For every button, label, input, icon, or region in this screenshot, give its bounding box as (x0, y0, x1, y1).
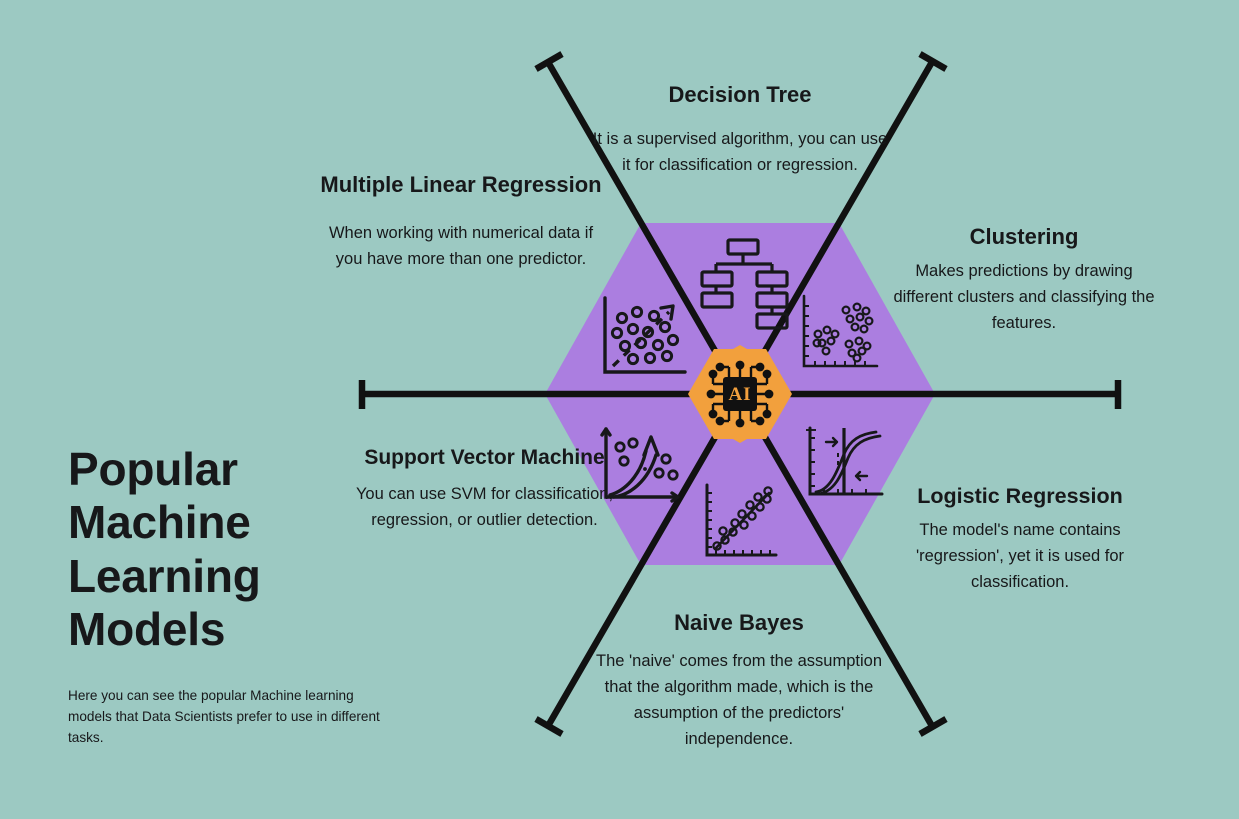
section-title: Clustering (888, 224, 1160, 250)
section-title: Multiple Linear Regression (320, 172, 602, 198)
infographic-canvas: AI Popular Machine Learning Models Here … (0, 0, 1239, 819)
section-title: Decision Tree (592, 82, 888, 108)
section-body: You can use SVM for classification, regr… (347, 481, 622, 533)
section-body: It is a supervised algorithm, you can us… (592, 126, 888, 178)
section-naive-bayes[interactable]: Naive Bayes The 'naive' comes from the a… (584, 610, 894, 752)
section-body: The model's name contains 'regression', … (884, 517, 1156, 595)
center-ai-label: AI (728, 384, 751, 405)
page-description: Here you can see the popular Machine lea… (68, 686, 384, 748)
section-body: Makes predictions by drawing different c… (888, 258, 1160, 336)
section-multiple-linear-regression[interactable]: Multiple Linear Regression When working … (320, 172, 602, 272)
section-title: Logistic Regression (884, 484, 1156, 509)
section-clustering[interactable]: Clustering Makes predictions by drawing … (888, 224, 1160, 336)
section-support-vector-machine[interactable]: Support Vector Machine You can use SVM f… (347, 446, 622, 533)
section-body: When working with numerical data if you … (320, 220, 602, 272)
section-title: Support Vector Machine (347, 446, 622, 471)
section-body: The 'naive' comes from the assumption th… (584, 648, 894, 752)
section-logistic-regression[interactable]: Logistic Regression The model's name con… (884, 484, 1156, 595)
section-title: Naive Bayes (584, 610, 894, 636)
section-decision-tree[interactable]: Decision Tree It is a supervised algorit… (592, 82, 888, 178)
